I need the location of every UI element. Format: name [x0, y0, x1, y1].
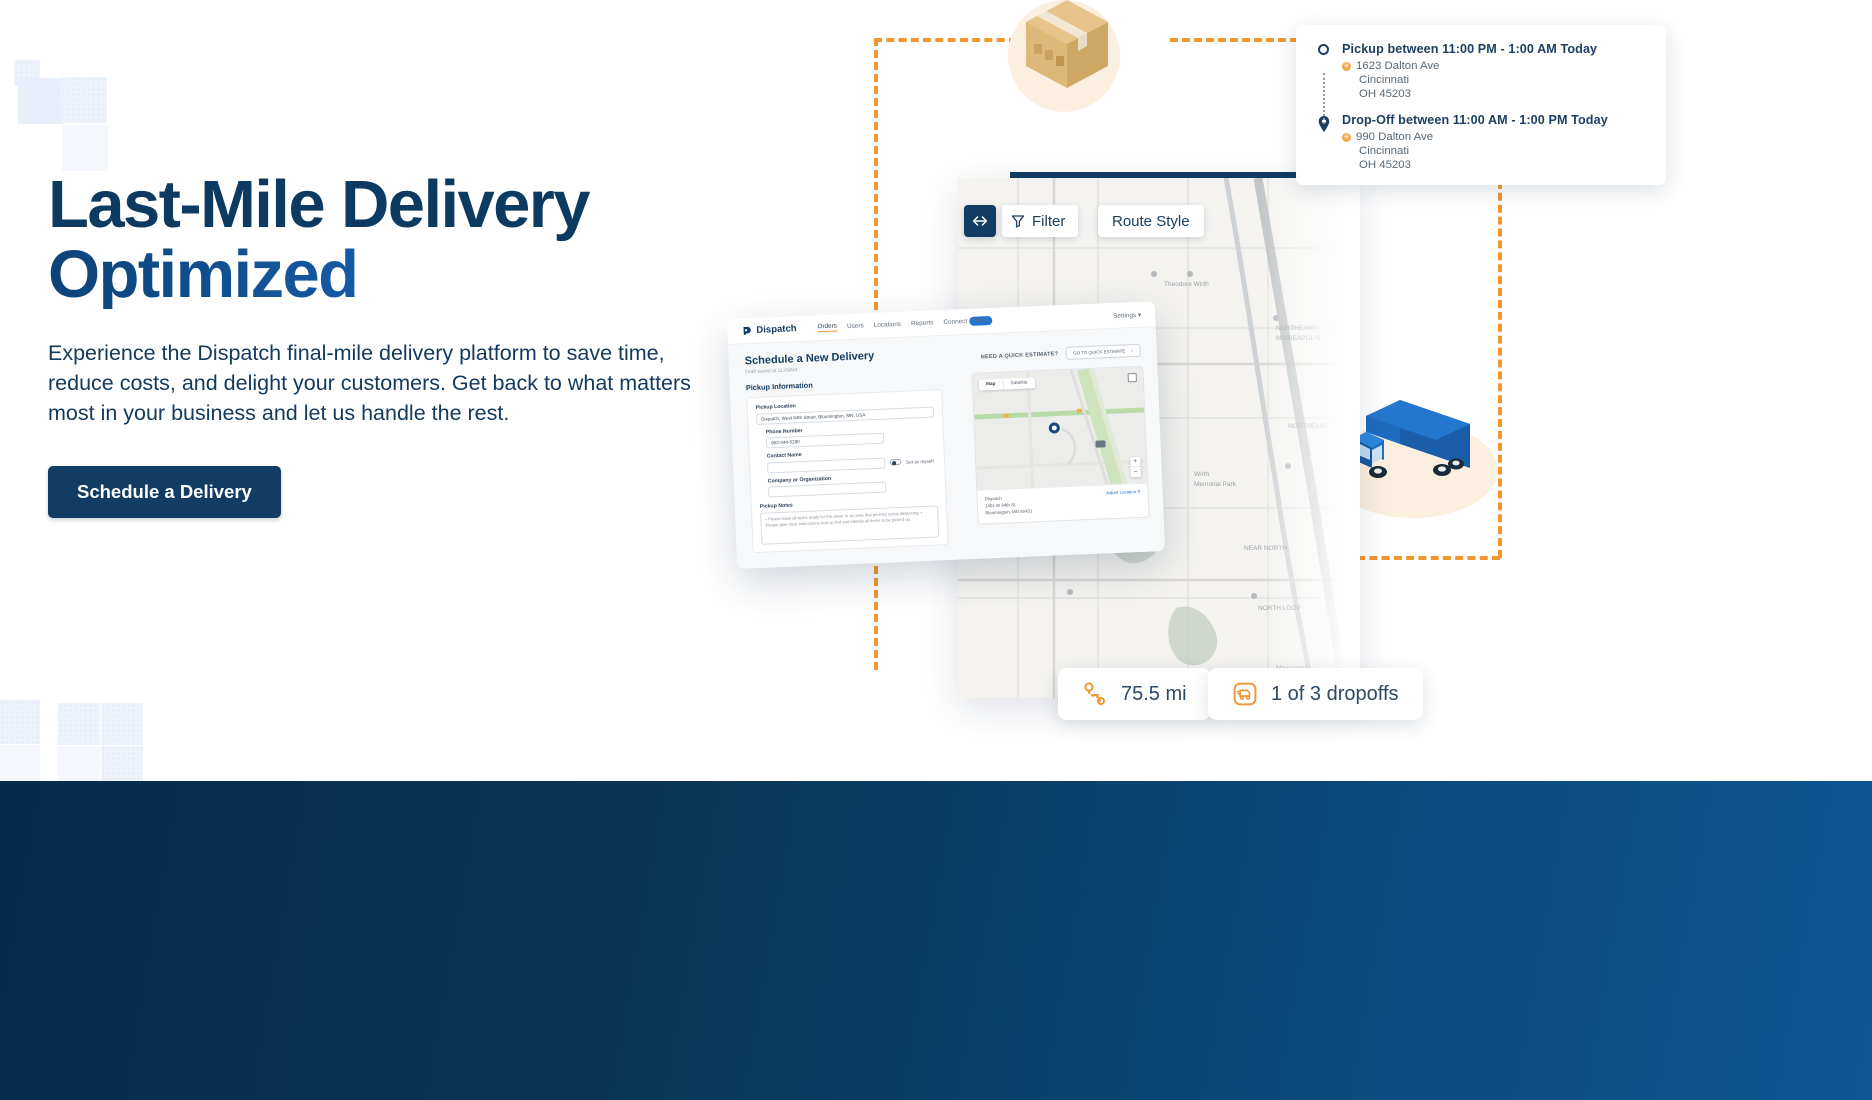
decorative-square	[0, 745, 40, 781]
delivery-vehicle-icon	[1232, 681, 1258, 707]
dashboard-nav-connect-badge: NEW	[969, 316, 992, 326]
distance-pill: 75.5 mi	[1058, 668, 1211, 720]
dashboard-map-adjust-location-link[interactable]: Adjust Location ⚲	[1106, 489, 1141, 513]
chevron-right-icon: ›	[1131, 348, 1133, 353]
pickup-region: OH 45203	[1342, 88, 1597, 100]
pickup-address: 1623 Dalton Ave	[1356, 60, 1439, 72]
dropoffs-label: 1 of 3 dropoffs	[1271, 683, 1399, 706]
pickup-city: Cincinnati	[1342, 74, 1597, 86]
route-icon	[1082, 681, 1108, 707]
decorative-square	[58, 703, 100, 745]
dashboard-logo: Dispatch	[741, 323, 797, 336]
decorative-square	[58, 746, 100, 781]
svg-text:Memorial Park: Memorial Park	[1194, 481, 1237, 488]
dropoffs-pill: 1 of 3 dropoffs	[1208, 668, 1423, 720]
schedule-delivery-button[interactable]: Schedule a Delivery	[48, 466, 281, 518]
set-as-myself-toggle[interactable]	[890, 459, 901, 465]
dashboard-nav-items: Orders Users Locations Reports ConnectNE…	[817, 316, 992, 332]
arrows-left-right-icon	[971, 215, 989, 227]
page-title: Last-Mile Delivery Optimized	[48, 170, 868, 309]
decorative-square	[61, 77, 107, 123]
delivery-truck-icon	[1348, 388, 1488, 508]
dropoff-city: Cincinnati	[1342, 145, 1608, 157]
dropoff-address: 990 Dalton Ave	[1356, 131, 1433, 143]
dashboard-map-zoom-in[interactable]: +	[1130, 457, 1140, 467]
dashboard-map-vehicle-icon	[1095, 440, 1105, 447]
pickup-information-panel: Pickup Location Dispatch, West 94th Stre…	[746, 389, 948, 553]
map-route-style-label: Route Style	[1112, 213, 1190, 230]
dashboard-map-adjust-label: Adjust Location	[1106, 489, 1136, 495]
quick-estimate-button-label: GO TO QUICK ESTIMATE	[1073, 348, 1125, 355]
dashboard-settings-menu[interactable]: Settings ▾	[1113, 310, 1141, 319]
decorative-square	[0, 700, 40, 744]
stats-band: 53k+ Businesses Served 75M+ Customer Mil…	[0, 781, 1872, 1100]
quick-estimate-prompt: NEED A QUICK ESTIMATE?	[981, 351, 1059, 360]
map-expand-button[interactable]	[964, 205, 996, 237]
dashboard-map-footer: Dispatch 1401 W 94th St, Bloomington, MN…	[977, 483, 1148, 524]
headline-line-2: Optimized	[48, 240, 868, 310]
hero-section: Last-Mile Delivery Optimized Experience …	[0, 0, 1872, 781]
dashboard-body: Schedule a New Delivery Draft saved at 1…	[728, 327, 1165, 569]
dashboard-nav-connect-label: Connect	[943, 318, 967, 326]
dashboard-map-tab-satellite[interactable]: Satellite	[1002, 377, 1035, 389]
company-input[interactable]	[768, 482, 886, 498]
hero-subcopy: Experience the Dispatch final-mile deliv…	[48, 339, 708, 428]
funnel-icon	[1011, 214, 1025, 228]
circle-outline-icon	[1318, 44, 1329, 55]
map-filter-label: Filter	[1032, 213, 1065, 230]
route-connector-line	[1323, 73, 1325, 124]
dashboard-settings-label: Settings	[1113, 311, 1136, 319]
dropoff-region: OH 45203	[1342, 159, 1608, 171]
dashboard-map-fullscreen-button[interactable]	[1128, 373, 1137, 382]
decorative-square	[101, 746, 143, 781]
dashboard-brand-name: Dispatch	[756, 323, 797, 336]
dashboard-nav-reports[interactable]: Reports	[911, 319, 934, 327]
distance-label: 75.5 mi	[1121, 683, 1187, 706]
decorative-square	[62, 125, 108, 171]
package-box-icon	[1022, 0, 1112, 94]
quick-estimate-button[interactable]: GO TO QUICK ESTIMATE ›	[1065, 344, 1141, 360]
dropoff-address-row: ✳ 990 Dalton Ave	[1342, 131, 1608, 143]
dashboard-map-zoom-out[interactable]: −	[1131, 467, 1141, 477]
pickup-notes-input[interactable]: • Please have all items ready for the dr…	[760, 505, 939, 544]
pickup-address-row: ✳ 1623 Dalton Ave	[1342, 60, 1597, 72]
svg-text:Wirth: Wirth	[1194, 471, 1210, 478]
dropoff-title: Drop-Off between 11:00 AM - 1:00 PM Toda…	[1342, 113, 1608, 127]
map-filter-button[interactable]: Filter	[1002, 205, 1078, 237]
decorative-square	[101, 703, 143, 745]
pickup-leg: Pickup between 11:00 PM - 1:00 AM Today …	[1316, 42, 1646, 100]
dashboard-nav-locations[interactable]: Locations	[874, 321, 902, 329]
dashboard-map-address: Dispatch 1401 W 94th St, Bloomington, MN…	[985, 493, 1033, 518]
delivery-schedule-card: Pickup between 11:00 PM - 1:00 AM Today …	[1296, 25, 1666, 185]
contact-name-input[interactable]	[767, 457, 885, 473]
asterisk-icon: ✳	[1342, 133, 1351, 142]
set-as-myself-label: Set as myself	[906, 458, 934, 464]
dropoff-leg: Drop-Off between 11:00 AM - 1:00 PM Toda…	[1316, 113, 1646, 171]
dispatch-logo-icon	[741, 325, 752, 336]
dashboard-nav-users[interactable]: Users	[847, 322, 864, 330]
asterisk-icon: ✳	[1342, 62, 1351, 71]
dashboard-screenshot: Dispatch Orders Users Locations Reports …	[727, 301, 1165, 569]
phone-number-input[interactable]: 952-444-5280	[766, 433, 884, 449]
svg-text:Theodore Wirth: Theodore Wirth	[1164, 281, 1209, 288]
map-fade-overlay	[1260, 178, 1360, 698]
headline-line-1: Last-Mile Delivery	[48, 167, 589, 242]
dashboard-map-type-toggle[interactable]: Map Satellite	[979, 377, 1035, 390]
dashboard-map-panel: Map Satellite + − Dispatch 1401 W 94th S…	[971, 366, 1149, 525]
decorative-square	[18, 78, 64, 124]
map-route-style-button[interactable]: Route Style	[1098, 205, 1204, 237]
dashboard-nav-connect[interactable]: ConnectNEW	[943, 317, 992, 326]
dashboard-map-zoom-controls[interactable]: + −	[1130, 457, 1141, 477]
dashboard-nav-orders[interactable]: Orders	[817, 322, 837, 332]
pickup-title: Pickup between 11:00 PM - 1:00 AM Today	[1342, 42, 1597, 56]
dashboard-map-tab-map[interactable]: Map	[979, 379, 1003, 391]
hero-illustration: Theodore Wirth NORTHEAST MINNEAPOLIS NOR…	[830, 0, 1872, 781]
dashboard-map-addr2: Bloomington, MN 55431	[985, 508, 1032, 517]
